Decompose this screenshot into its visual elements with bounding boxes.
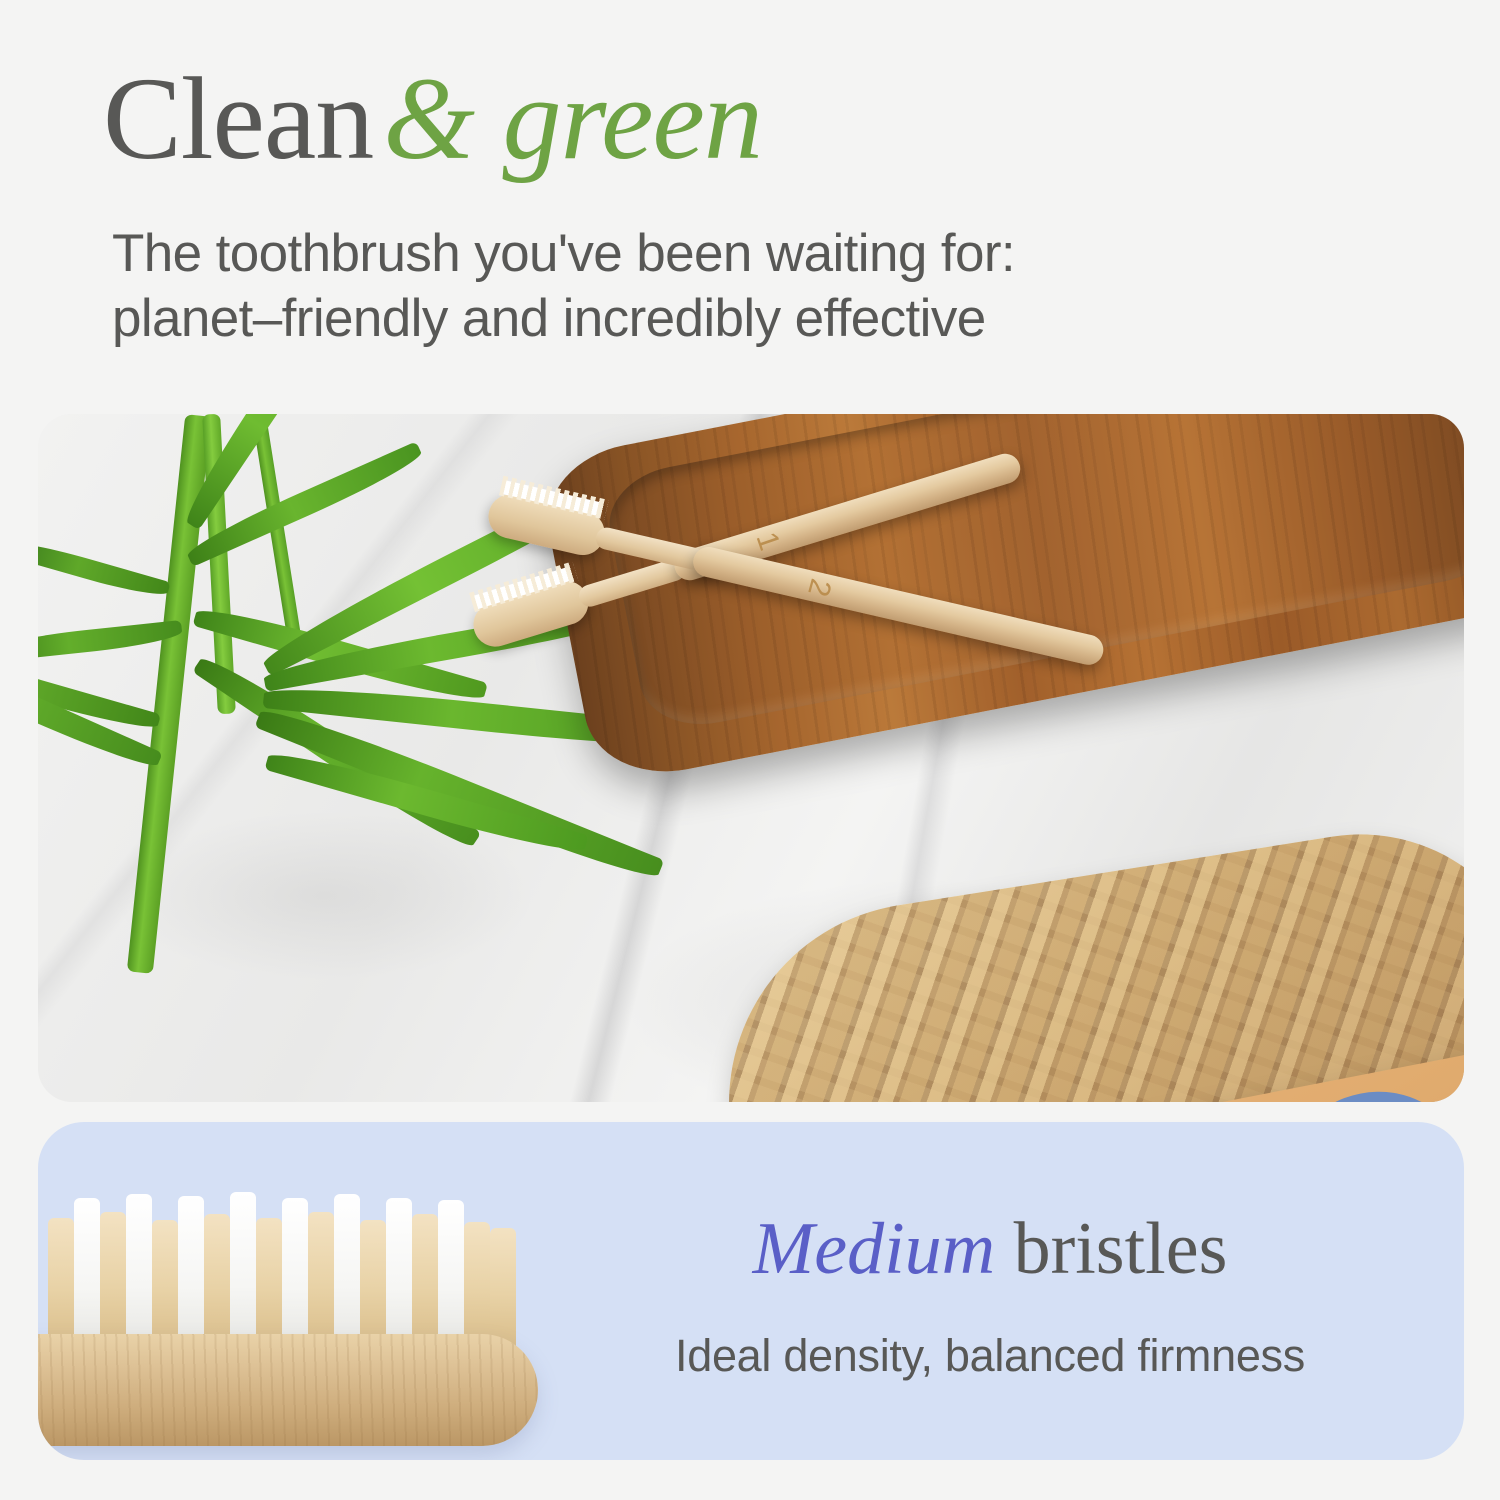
header-block: Clean& green The toothbrush you've been …: [0, 0, 1500, 400]
hero-photo-panel: 1 2 VIVAGO 10 PACK: [38, 414, 1464, 1102]
subheadline-line-1: The toothbrush you've been waiting for:: [112, 222, 1312, 287]
bristles-title: Medium bristles: [540, 1212, 1440, 1286]
brush-head-bamboo-body: [38, 1334, 538, 1446]
bristles-subtitle: Ideal density, balanced firmness: [540, 1330, 1440, 1382]
product-infographic: Clean& green The toothbrush you've been …: [0, 0, 1500, 1500]
headline-plain: Clean: [103, 53, 373, 184]
bristle-tufts: [48, 1188, 528, 1348]
bristles-title-plain: bristles: [1014, 1208, 1228, 1290]
subheadline: The toothbrush you've been waiting for: …: [112, 222, 1312, 351]
subheadline-line-2: planet–friendly and incredibly effective: [112, 287, 1312, 352]
toothbrush-2-engraving: 2: [800, 575, 837, 600]
bristles-feature-panel: [38, 1122, 1464, 1460]
headline-accent: & green: [373, 53, 762, 184]
bristle-closeup-image: [38, 1166, 588, 1460]
bristles-title-accent: Medium: [753, 1208, 996, 1290]
page-title: Clean& green: [103, 60, 762, 178]
toothbrush-1-engraving: 1: [749, 528, 787, 555]
